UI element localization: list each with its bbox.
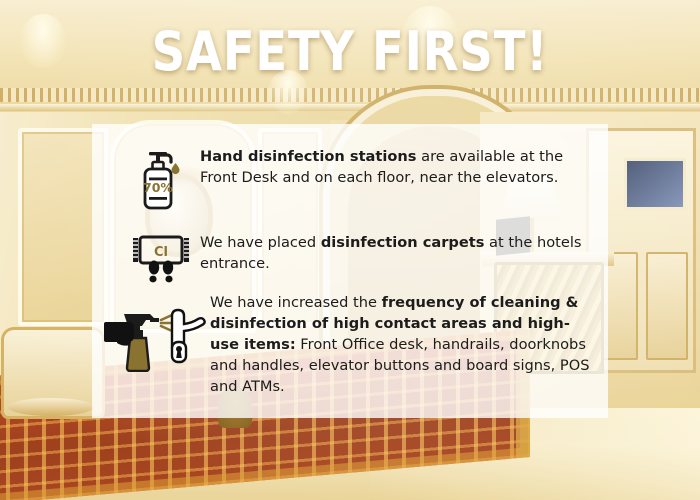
content-card: 70% Hand disinfection stations are avail… <box>92 124 608 418</box>
sanitizer-percent-label: 70% <box>143 180 173 195</box>
icon-cell <box>102 292 210 372</box>
icon-cell: Cl <box>122 232 200 284</box>
icon-cell: 70% <box>122 146 200 212</box>
spray-bottle-door-handle-icon <box>104 302 208 372</box>
content-rows: 70% Hand disinfection stations are avail… <box>92 124 608 418</box>
spray-bottle-icon <box>104 314 159 371</box>
poster-title: SAFETY FIRST! <box>49 24 651 80</box>
hand-sanitizer-bottle-icon: 70% <box>139 150 183 212</box>
poster-stage: SAFETY FIRST! <box>0 0 700 500</box>
list-item-text: Hand disinfection stations are available… <box>200 146 592 188</box>
list-item-prefix: We have increased the <box>210 294 382 311</box>
carpet-cl-label: Cl <box>154 245 168 260</box>
list-item: 70% Hand disinfection stations are avail… <box>122 146 592 212</box>
list-item: Cl We have placed disinfection carpets a… <box>122 232 592 284</box>
list-item-prefix: We have placed <box>200 234 321 251</box>
list-item-lead: Hand disinfection stations <box>200 148 416 165</box>
list-item-lead: disinfection carpets <box>321 234 485 251</box>
list-item-text: We have placed disinfection carpets at t… <box>200 232 592 274</box>
list-item: We have increased the frequency of clean… <box>102 292 597 397</box>
disinfection-carpet-icon: Cl <box>132 234 190 284</box>
list-item-text: We have increased the frequency of clean… <box>210 292 597 397</box>
